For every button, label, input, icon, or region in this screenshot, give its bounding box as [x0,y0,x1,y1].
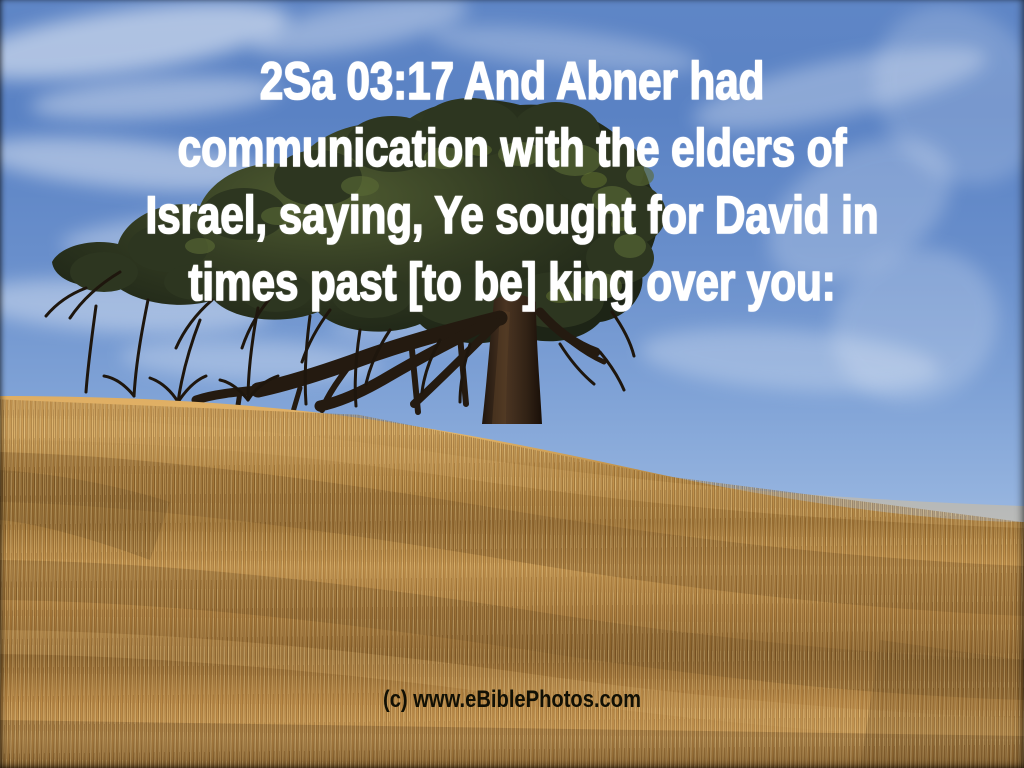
verse-line-3: Israel, saying, Ye sought for David in [102,182,921,249]
verse-line-1: 2Sa 03:17 And Abner had [102,48,921,115]
verse-photo-canvas: 2Sa 03:17 And Abner had communication wi… [0,0,1024,768]
verse-line-2: communication with the elders of [102,115,921,182]
copyright-watermark: (c) www.eBiblePhotos.com [82,688,942,712]
verse-line-4: times past [to be] king over you: [102,249,921,316]
verse-overlay-text: 2Sa 03:17 And Abner had communication wi… [102,48,921,316]
